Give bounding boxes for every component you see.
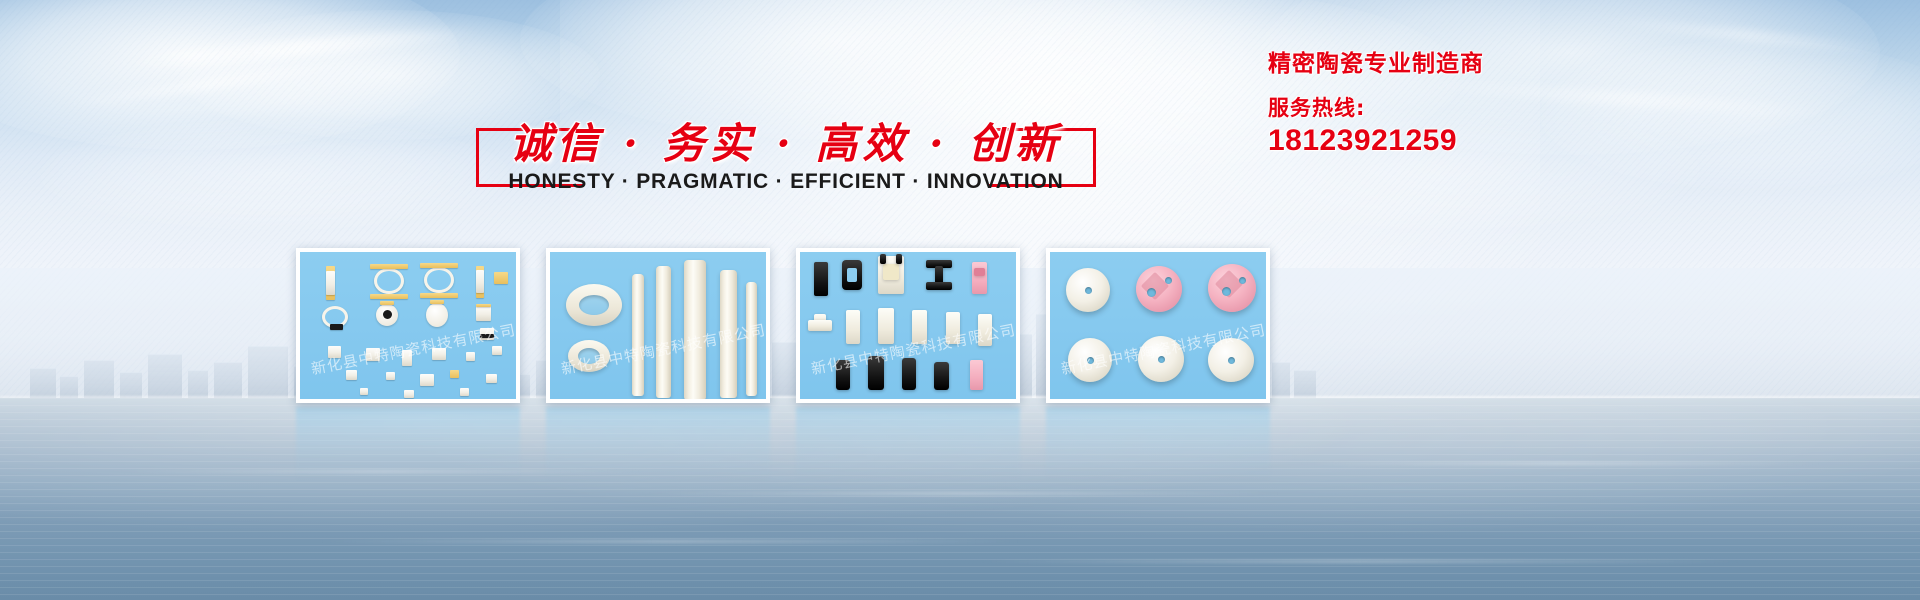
product-panel-chips[interactable]: 新化县中特陶瓷科技有限公司 [296,248,520,403]
slogan-english: HONESTY · PRAGMATIC · EFFICIENT · INNOVA… [476,170,1096,194]
product-panel-row: 新化县中特陶瓷科技有限公司 新化县中特陶瓷科技有限公司 [296,248,1270,403]
hotline-label: 服务热线: [1268,96,1648,120]
hotline-phone-number[interactable]: 18123921259 [1268,124,1648,157]
hero-banner: 诚信 · 务实 · 高效 · 创新 HONESTY · PRAGMATIC · … [0,0,1920,600]
product-panel-blocks[interactable]: 新化县中特陶瓷科技有限公司 [796,248,1020,403]
slogan-block: 诚信 · 务实 · 高效 · 创新 HONESTY · PRAGMATIC · … [476,112,1096,204]
ground-streak [320,540,1020,543]
contact-block: 精密陶瓷专业制造商 服务热线: 18123921259 [1268,52,1648,157]
product-panel-discs[interactable]: 新化县中特陶瓷科技有限公司 [1046,248,1270,403]
ground-streak [640,492,1280,495]
ground-streak [1300,462,1820,465]
ground-reflection-sheen [0,398,1920,600]
product-panel-tubes[interactable]: 新化县中特陶瓷科技有限公司 [546,248,770,403]
company-tagline: 精密陶瓷专业制造商 [1268,52,1648,77]
slogan-chinese: 诚信 · 务实 · 高效 · 创新 [476,110,1096,171]
ground-streak [120,470,640,473]
ground-streak [980,560,1740,563]
